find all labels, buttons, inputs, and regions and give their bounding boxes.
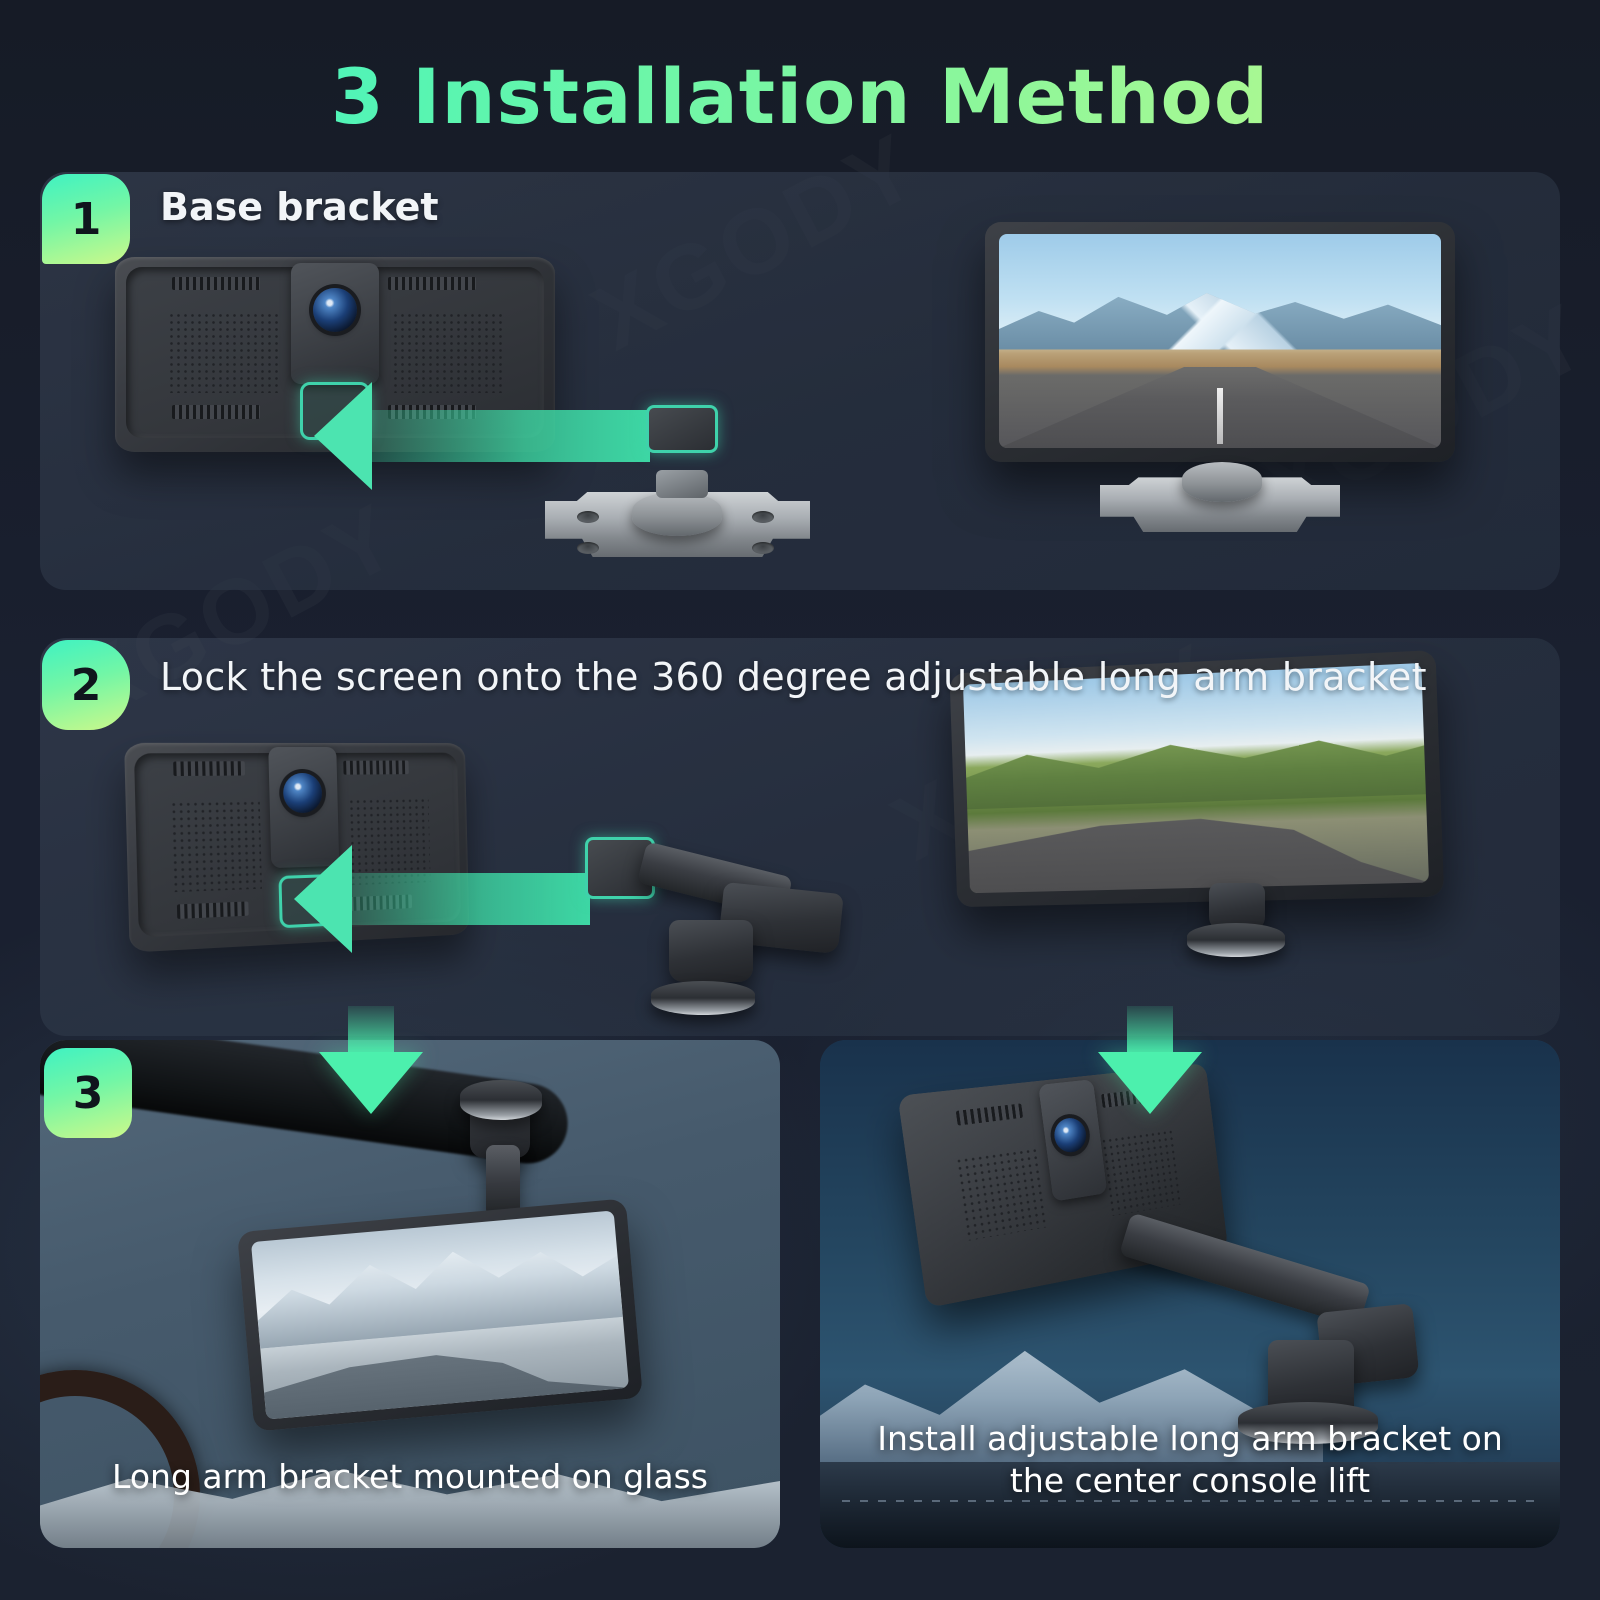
step-3-photo-left: Long arm bracket mounted on glass xyxy=(40,1040,780,1548)
step-2-label: Lock the screen onto the 360 degree adju… xyxy=(160,655,1427,699)
mount-neck xyxy=(486,1145,520,1217)
suction-cup xyxy=(651,981,755,1015)
photo-left-caption: Long arm bracket mounted on glass xyxy=(40,1456,780,1498)
flow-arrow-down-icon xyxy=(319,1052,423,1114)
suction-cup xyxy=(460,1080,542,1120)
vent-grille-icon xyxy=(172,405,260,419)
display-screen xyxy=(999,234,1441,448)
base-bracket xyxy=(545,402,810,557)
speaker-dots-texture xyxy=(168,312,278,394)
speaker-dots-texture xyxy=(170,800,261,893)
vent-grille-icon xyxy=(172,277,260,291)
vent-grille-icon xyxy=(388,277,476,291)
screw-hole xyxy=(577,542,599,554)
base-bracket-attached xyxy=(1100,454,1340,532)
swivel-joint xyxy=(656,470,708,498)
photo-right-caption-line1: Install adjustable long arm bracket on xyxy=(820,1418,1560,1460)
step-1-badge: 1 xyxy=(42,174,130,264)
flow-arrow-stem xyxy=(348,1006,394,1054)
camera-lens-icon xyxy=(313,288,357,332)
screw-hole xyxy=(577,511,599,523)
step-3-photo-right: Install adjustable long arm bracket on t… xyxy=(820,1040,1560,1548)
device-front-mounted-on-glass xyxy=(237,1198,643,1431)
suction-cup xyxy=(1187,923,1285,957)
long-arm-bracket xyxy=(570,823,860,1003)
screw-hole xyxy=(752,542,774,554)
bracket-post xyxy=(669,920,753,982)
flow-arrow-stem xyxy=(1127,1006,1173,1054)
long-arm-bracket-attached xyxy=(1170,883,1310,973)
swivel-puck xyxy=(1182,462,1262,502)
infographic-page: XGODY XGODY XGODY XGODY 3 Installation M… xyxy=(0,0,1600,1600)
screw-hole xyxy=(752,511,774,523)
road-lane-marking xyxy=(1217,388,1222,444)
step-2-badge: 2 xyxy=(42,640,130,730)
step-3-badge: 3 xyxy=(44,1048,132,1138)
assembly-arrow-icon xyxy=(350,873,590,925)
vent-grille-icon xyxy=(343,761,409,775)
vent-grille-icon xyxy=(956,1103,1023,1125)
speaker-dots-texture xyxy=(392,312,502,394)
step-1-panel xyxy=(40,172,1560,590)
speaker-dots-texture xyxy=(1100,1128,1184,1216)
device-front-on-base xyxy=(985,222,1455,462)
bracket-head-highlight[interactable] xyxy=(646,405,718,453)
swivel-puck xyxy=(632,492,722,536)
flow-arrow-down-icon xyxy=(1098,1052,1202,1114)
display-screen xyxy=(251,1210,629,1419)
photo-right-caption-line2: the center console lift xyxy=(820,1460,1560,1502)
vent-grille-icon xyxy=(173,761,245,776)
step-1-label: Base bracket xyxy=(160,185,439,229)
speaker-dots-texture xyxy=(955,1146,1050,1241)
page-title: 3 Installation Method xyxy=(0,52,1600,141)
